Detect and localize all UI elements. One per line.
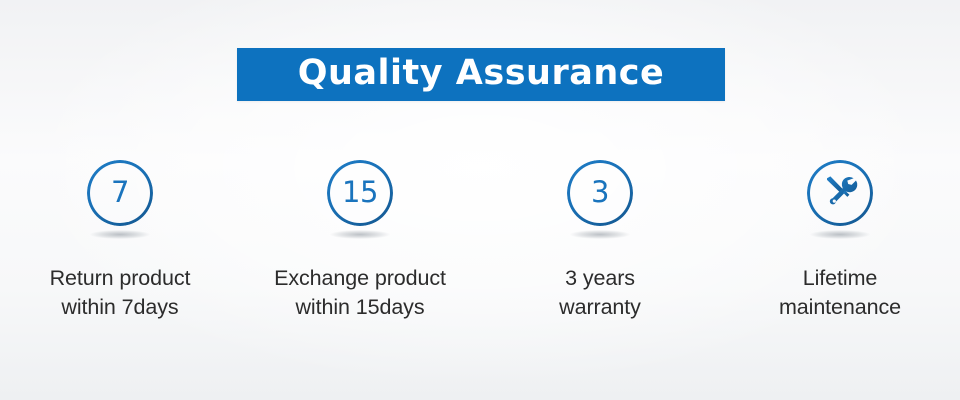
feature-label: 3 years warranty — [559, 264, 641, 321]
feature-label: Lifetime maintenance — [779, 264, 901, 321]
badge-shadow — [810, 230, 870, 239]
page-title: Quality Assurance — [298, 56, 664, 91]
number-7-badge: 7 — [111, 178, 129, 207]
badge-shadow — [330, 230, 390, 239]
badge-circle — [807, 160, 873, 226]
number-3-badge: 3 — [591, 178, 609, 207]
badge-wrap: 3 — [563, 160, 637, 240]
feature-item-return-product: 7 Return product within 7days — [0, 160, 240, 321]
badge-circle: 7 — [87, 160, 153, 226]
feature-label: Exchange product within 15days — [274, 264, 446, 321]
feature-item-exchange-product: 15 Exchange product within 15days — [240, 160, 480, 321]
wrench-screwdriver-icon — [820, 173, 860, 213]
badge-circle: 3 — [567, 160, 633, 226]
badge-shadow — [90, 230, 150, 239]
feature-item-lifetime-maintenance: Lifetime maintenance — [720, 160, 960, 321]
feature-item-warranty: 3 3 years warranty — [480, 160, 720, 321]
feature-label: Return product within 7days — [50, 264, 191, 321]
feature-row: 7 Return product within 7days 15 Exchang… — [0, 160, 960, 321]
badge-wrap — [803, 160, 877, 240]
badge-shadow — [570, 230, 630, 239]
number-15-badge: 15 — [342, 178, 378, 207]
title-banner: Quality Assurance — [237, 48, 725, 101]
badge-wrap: 15 — [323, 160, 397, 240]
badge-circle: 15 — [327, 160, 393, 226]
badge-wrap: 7 — [83, 160, 157, 240]
quality-assurance-banner: Quality Assurance 7 Return product withi… — [0, 0, 960, 400]
